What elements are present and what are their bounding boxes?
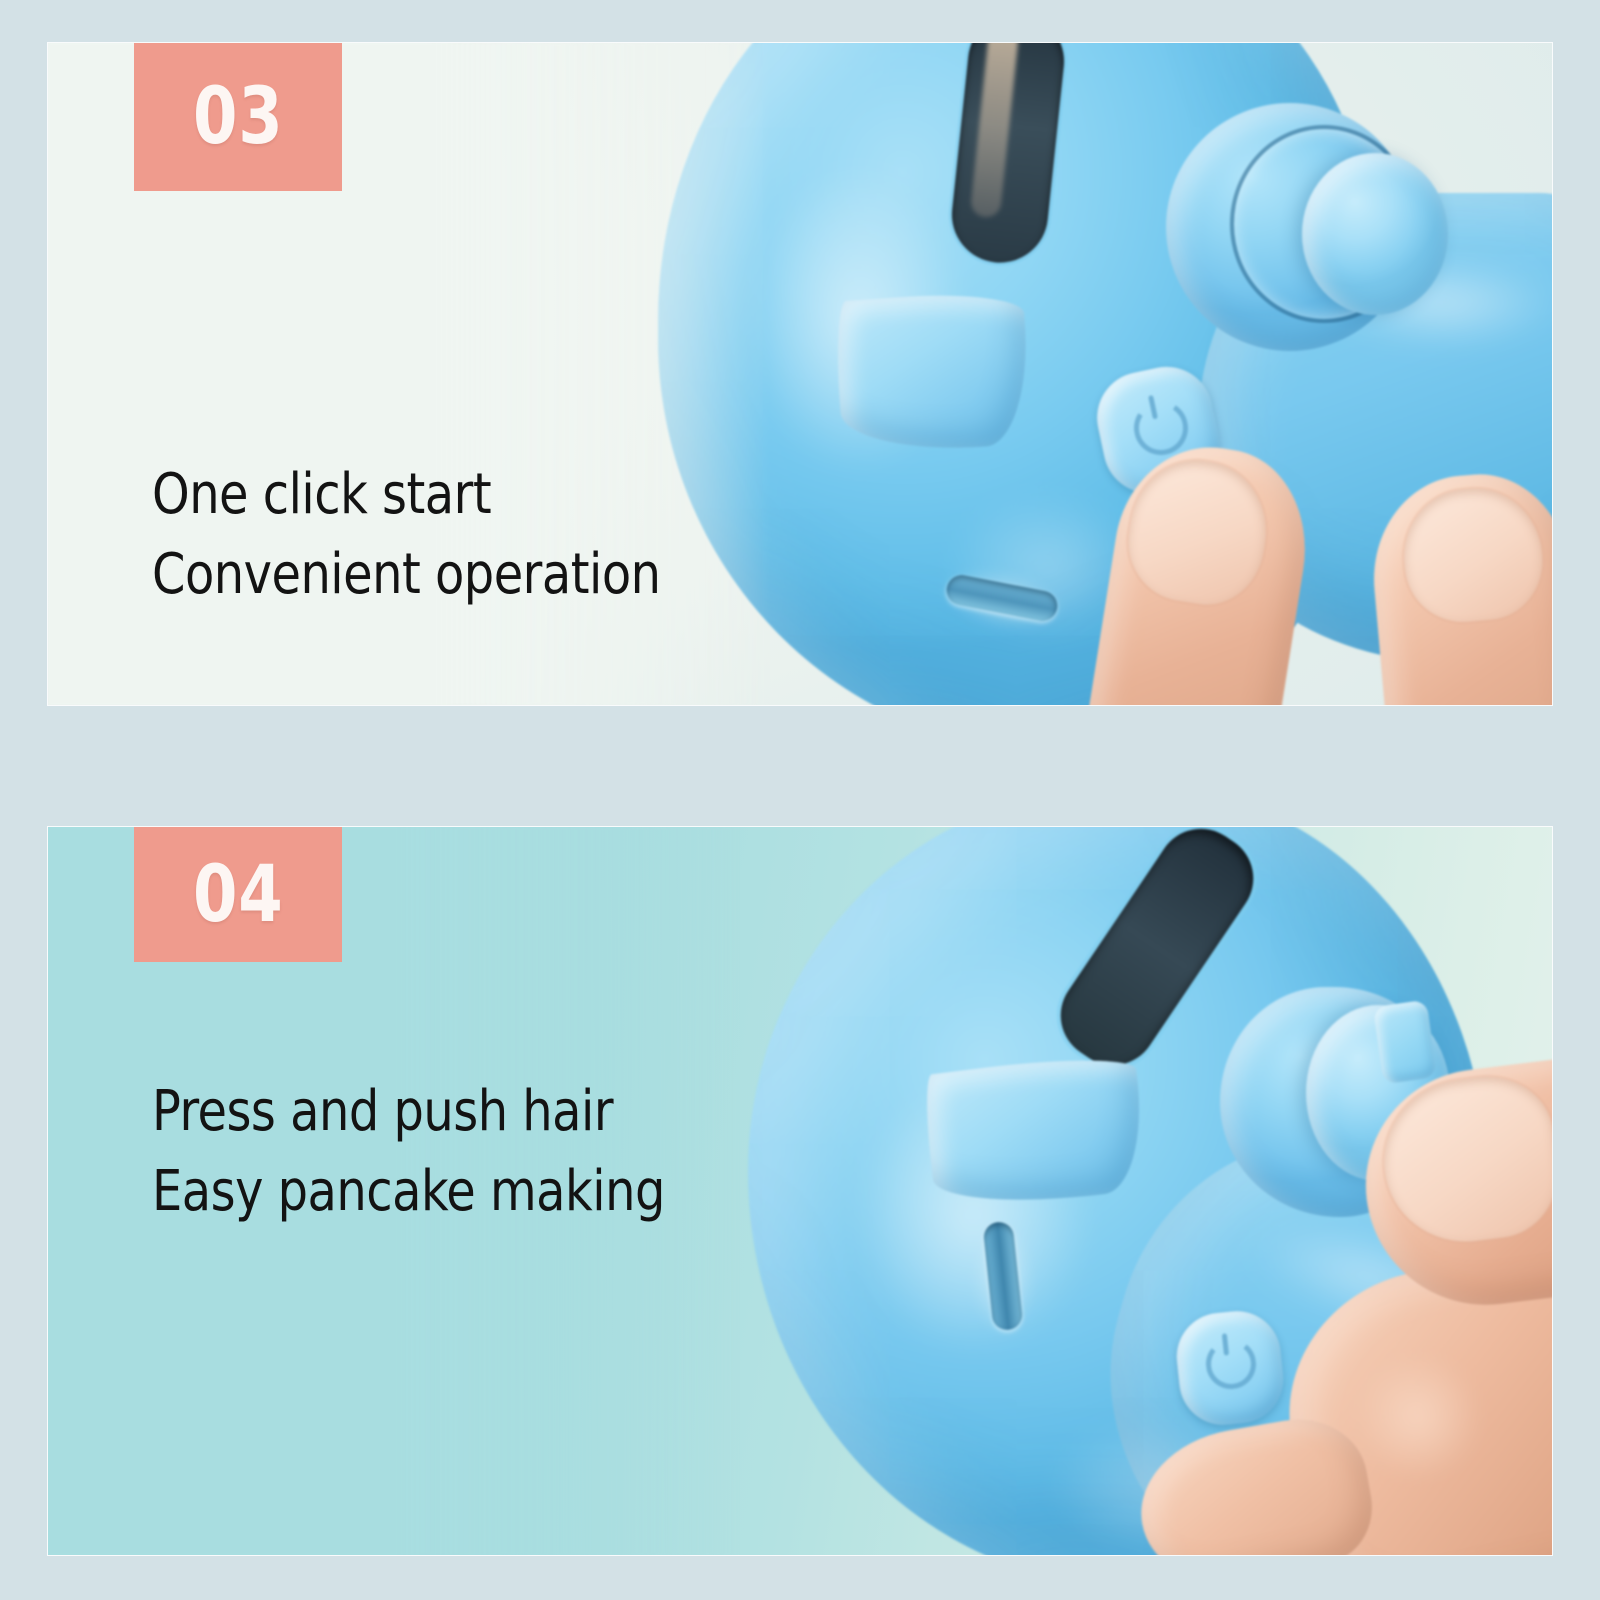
feature-panel-04: 04 Press and push hair Easy pancake maki… [48, 827, 1552, 1555]
panel-caption-03: One click start Convenient operation [152, 455, 661, 614]
rotary-knob-icon [1302, 153, 1448, 315]
caption-line-1: Press and push hair [152, 1072, 665, 1152]
step-number: 04 [193, 856, 284, 934]
caption-line-1: One click start [152, 455, 661, 535]
caption-line-2: Easy pancake making [152, 1152, 665, 1232]
fin-ridge-icon [833, 289, 1033, 457]
step-badge-03: 03 [134, 43, 342, 191]
panel-caption-04: Press and push hair Easy pancake making [152, 1072, 665, 1231]
infographic-sheet: 03 One click start Convenient operation [0, 0, 1600, 1600]
caption-line-2: Convenient operation [152, 535, 661, 615]
feature-panel-03: 03 One click start Convenient operation [48, 43, 1552, 705]
step-badge-04: 04 [134, 827, 342, 962]
knob-tab-icon [1373, 1000, 1437, 1085]
step-number: 03 [193, 78, 284, 156]
